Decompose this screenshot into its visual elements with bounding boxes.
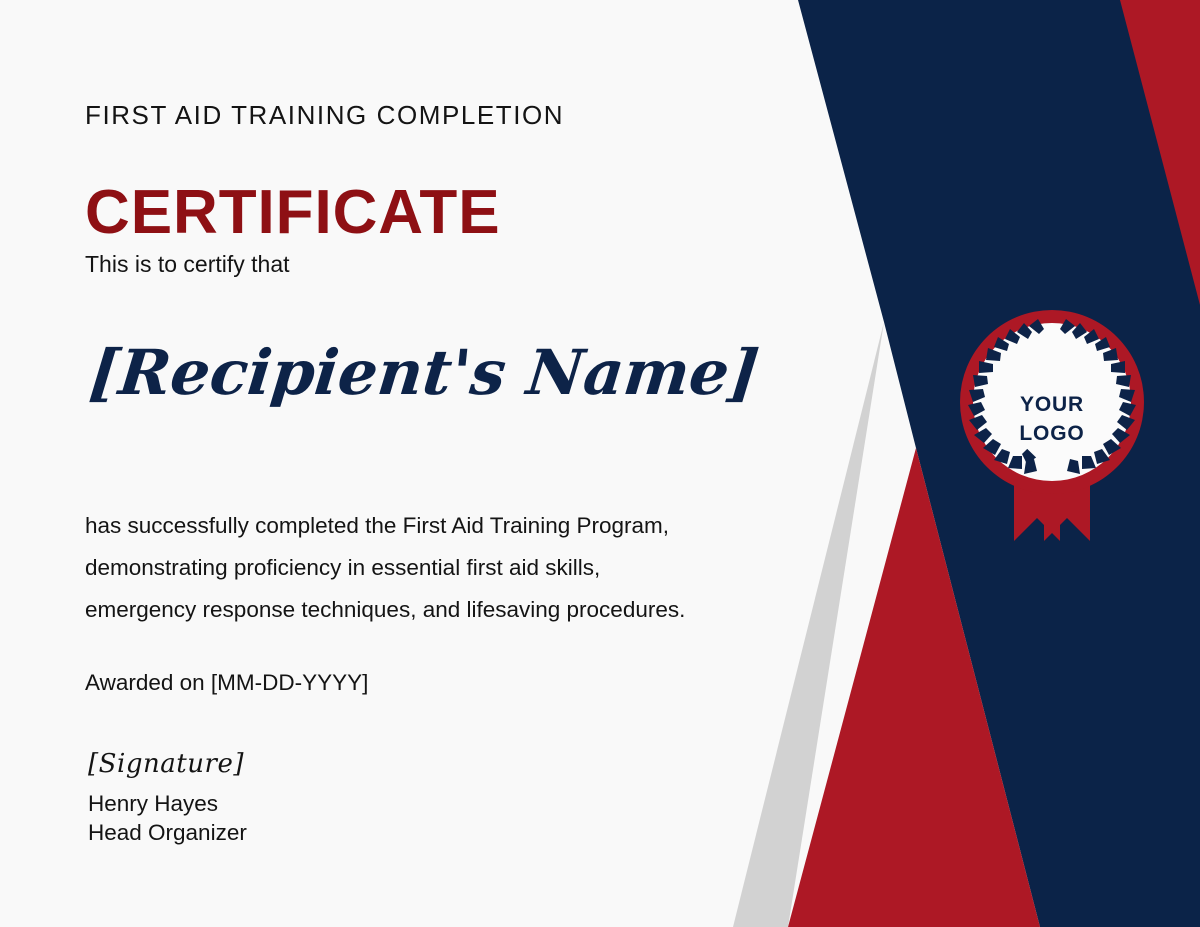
red-corner-shape [1120, 0, 1200, 305]
recipient-name-field[interactable]: [Recipient's Name] [87, 342, 762, 404]
certify-statement: This is to certify that [85, 251, 290, 278]
body-line-3: emergency response techniques, and lifes… [85, 589, 845, 631]
logo-badge[interactable]: YOUR LOGO [952, 306, 1152, 566]
certificate-body-text: has successfully completed the First Aid… [85, 505, 845, 631]
certificate-content: FIRST AID TRAINING COMPLETION CERTIFICAT… [85, 0, 805, 927]
awarded-date-field[interactable]: Awarded on [MM-DD-YYYY] [85, 670, 368, 696]
body-line-2: demonstrating proficiency in essential f… [85, 547, 845, 589]
signer-title: Head Organizer [88, 818, 247, 847]
signature-field[interactable]: [Signature] [88, 750, 247, 780]
body-line-1: has successfully completed the First Aid… [85, 505, 845, 547]
certificate-page: FIRST AID TRAINING COMPLETION CERTIFICAT… [0, 0, 1200, 927]
page-title: CERTIFICATE [85, 182, 501, 244]
signature-block: [Signature] Henry Hayes Head Organizer [88, 750, 247, 847]
rosette-icon [952, 306, 1152, 566]
signer-name: Henry Hayes [88, 789, 247, 818]
certificate-subtitle: FIRST AID TRAINING COMPLETION [85, 100, 564, 131]
